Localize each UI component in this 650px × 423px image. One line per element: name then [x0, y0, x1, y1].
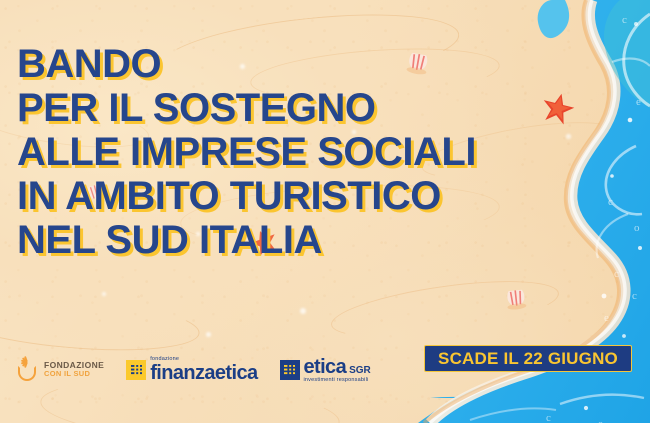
headline-line-5: NEL SUD ITALIA: [17, 220, 476, 260]
logo-finanzaetica-line2: finanzaetica: [150, 363, 257, 383]
logo-etica-suffix: SGR: [349, 366, 371, 376]
headline-line-3: ALLE IMPRESE SOCIALI: [17, 132, 476, 172]
logo-etica-name: etica: [304, 357, 347, 377]
headline-line-2: PER IL SOSTEGNO: [17, 88, 476, 128]
poster-banner: c e c o c e c c e: [0, 0, 650, 423]
sun-icon: [14, 357, 40, 383]
headline-line-1: BANDO: [17, 44, 476, 84]
logo-fcs-line2: CON IL SUD: [44, 370, 104, 378]
deadline-badge-label: SCADE IL 22 GIUGNO: [438, 349, 618, 369]
logo-etica-tagline: investimenti responsabili: [304, 378, 371, 384]
partner-logo-bar: FONDAZIONE CON IL SUD fondazione finanza…: [14, 357, 371, 384]
logo-fondazione-con-il-sud[interactable]: FONDAZIONE CON IL SUD: [14, 357, 104, 383]
poster-headline: BANDO PER IL SOSTEGNO ALLE IMPRESE SOCIA…: [17, 44, 476, 264]
logo-etica-sgr[interactable]: etica SGR investimenti responsabili: [280, 357, 371, 384]
etica-sgr-mark-icon: [280, 360, 300, 380]
deadline-badge[interactable]: SCADE IL 22 GIUGNO: [424, 345, 632, 372]
headline-line-4: IN AMBITO TURISTICO: [17, 176, 476, 216]
finanzaetica-mark-icon: [126, 360, 146, 380]
logo-fondazione-finanzaetica[interactable]: fondazione finanzaetica: [126, 357, 257, 384]
